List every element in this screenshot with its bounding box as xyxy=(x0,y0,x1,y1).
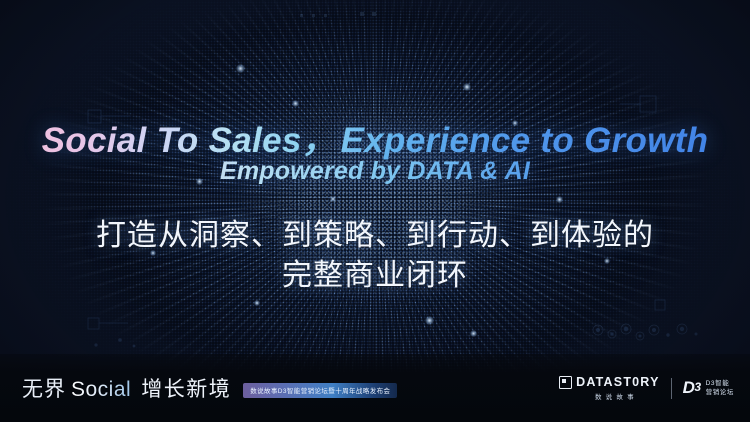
datastory-chinese-name: 数说故事 xyxy=(581,391,638,401)
brand-social-wordmark: Social xyxy=(71,378,131,402)
d3-mark-letter: D xyxy=(683,378,695,397)
d3-label-line-1: D3智能 xyxy=(706,380,734,387)
datastory-logo: DATAST0RY 数说故事 xyxy=(559,375,660,401)
footer-logos-group: DATAST0RY 数说故事 D3 D3智能 营销论坛 xyxy=(559,375,734,401)
d3-label-line-2: 营销论坛 xyxy=(706,389,734,396)
brand-suffix-label: 增长新境 xyxy=(141,373,231,403)
d3-forum-logo: D3 D3智能 营销论坛 xyxy=(683,378,734,398)
d3-mark-icon: D3 xyxy=(683,378,701,398)
headline-part-1: Social To Sales xyxy=(42,121,302,160)
event-name-badge: 数说故事D3智能营销论坛暨十周年战略发布会 xyxy=(243,383,397,398)
brand-prefix-label: 无界 xyxy=(22,373,66,403)
logo-divider xyxy=(671,378,672,399)
headline-english: Social To Sales，Experience to Growth xyxy=(0,112,750,163)
headline-chinese-line-1: 打造从洞察、到策略、到行动、到体验的 xyxy=(0,210,750,254)
headline-separator: ， xyxy=(302,121,341,160)
d3-text-block: D3智能 营销论坛 xyxy=(706,380,734,396)
footer-bar: 无界Social增长新境 数说故事D3智能营销论坛暨十周年战略发布会 DATAS… xyxy=(0,354,750,422)
d3-mark-number: 3 xyxy=(694,380,700,394)
datastory-wordmark-row: DATAST0RY xyxy=(559,375,660,389)
headline-part-2: Experience to Growth xyxy=(341,121,709,160)
datastory-wordmark: DATAST0RY xyxy=(576,375,660,389)
datastory-mark-icon xyxy=(559,376,572,389)
headline-chinese-line-2: 完整商业闭环 xyxy=(0,250,750,294)
footer-left-group: 无界Social增长新境 数说故事D3智能营销论坛暨十周年战略发布会 xyxy=(22,373,397,403)
subtitle-english: Empowered by DATA & AI xyxy=(0,157,750,186)
event-brand-lockup: 无界Social增长新境 xyxy=(22,373,231,403)
presentation-slide: Social To Sales，Experience to Growth Emp… xyxy=(0,0,750,422)
